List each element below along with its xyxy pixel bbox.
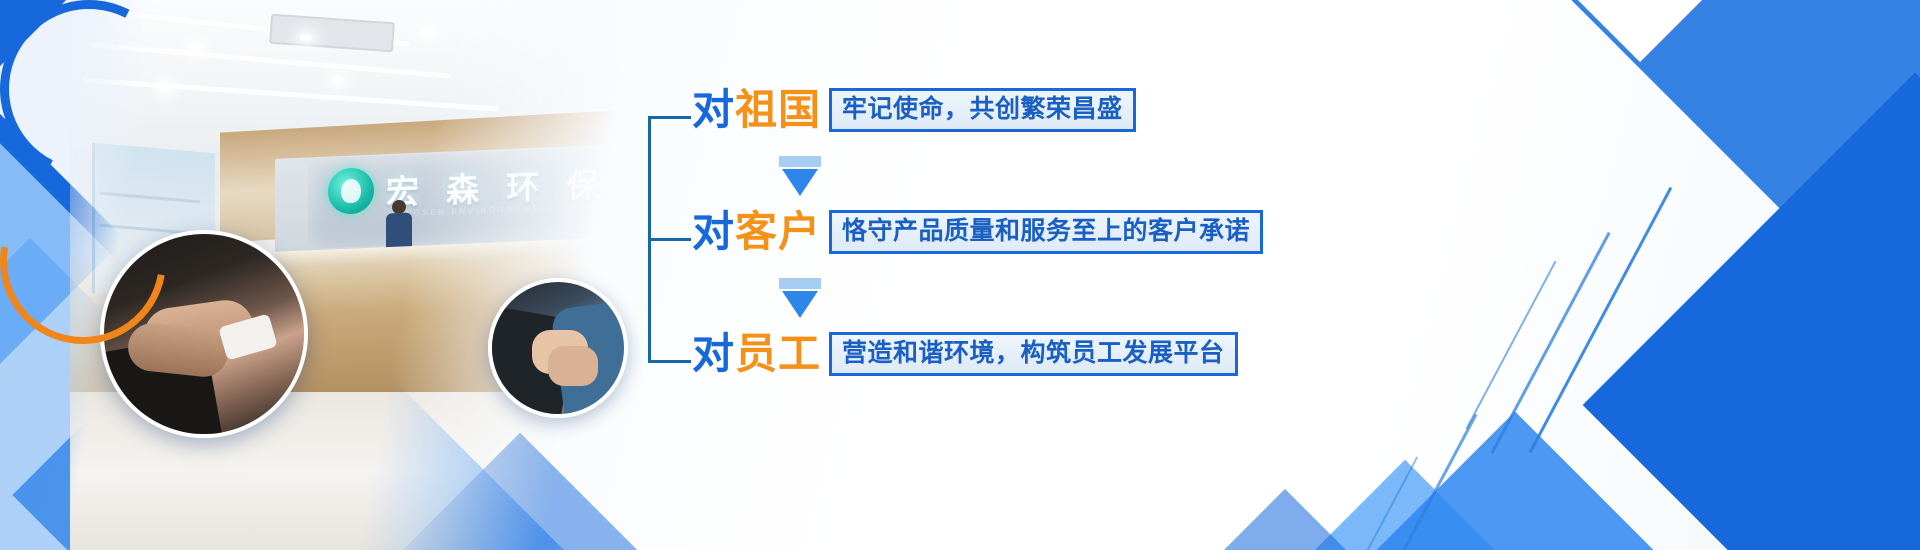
photo-staff-body — [386, 213, 412, 250]
row2-prefix: 对 — [692, 211, 735, 253]
bracket-arm-bottom — [651, 360, 691, 363]
teamwork-photo — [488, 278, 628, 418]
bracket-arm-middle — [651, 238, 691, 241]
down-arrow-icon-1-head — [782, 169, 818, 196]
photo-spotlight — [422, 28, 434, 35]
company-culture-banner: 宏 森 环 保 HONGSEN ENVIRONMENTAL PROTECTION — [0, 0, 1920, 550]
culture-statement-list: 对 祖国 牢记使命，共创繁荣昌盛 对 客户 恪守产品质量和服务至上的客户承诺 对… — [648, 70, 1408, 390]
down-arrow-icon-2-cap — [779, 278, 821, 289]
row1-target: 祖国 — [735, 89, 821, 131]
down-arrow-icon-2-head — [782, 291, 818, 318]
row3-description: 营造和谐环境，构筑员工发展平台 — [829, 332, 1238, 376]
row3-prefix: 对 — [692, 333, 735, 375]
decor-diagonal-stroke — [1466, 261, 1557, 430]
culture-row-employee: 对 员工 营造和谐环境，构筑员工发展平台 — [692, 332, 1238, 376]
bracket-connector — [648, 116, 695, 363]
culture-row-country: 对 祖国 牢记使命，共创繁荣昌盛 — [692, 88, 1136, 132]
teamwork-hand-b — [548, 346, 598, 386]
row2-target: 客户 — [735, 211, 821, 253]
down-arrow-icon-1-cap — [779, 156, 821, 167]
decor-diagonal-stroke — [1490, 232, 1610, 454]
bracket-arm-top — [651, 116, 691, 119]
photo-spotlight — [190, 44, 202, 51]
culture-row-customer: 对 客户 恪守产品质量和服务至上的客户承诺 — [692, 210, 1263, 254]
row1-prefix: 对 — [692, 89, 735, 131]
row2-description: 恪守产品质量和服务至上的客户承诺 — [829, 210, 1263, 254]
row1-description: 牢记使命，共创繁荣昌盛 — [829, 88, 1136, 132]
photo-spotlight — [332, 76, 344, 83]
photo-staff-person — [386, 200, 412, 249]
row3-target: 员工 — [735, 333, 821, 375]
photo-spotlight — [300, 34, 312, 41]
